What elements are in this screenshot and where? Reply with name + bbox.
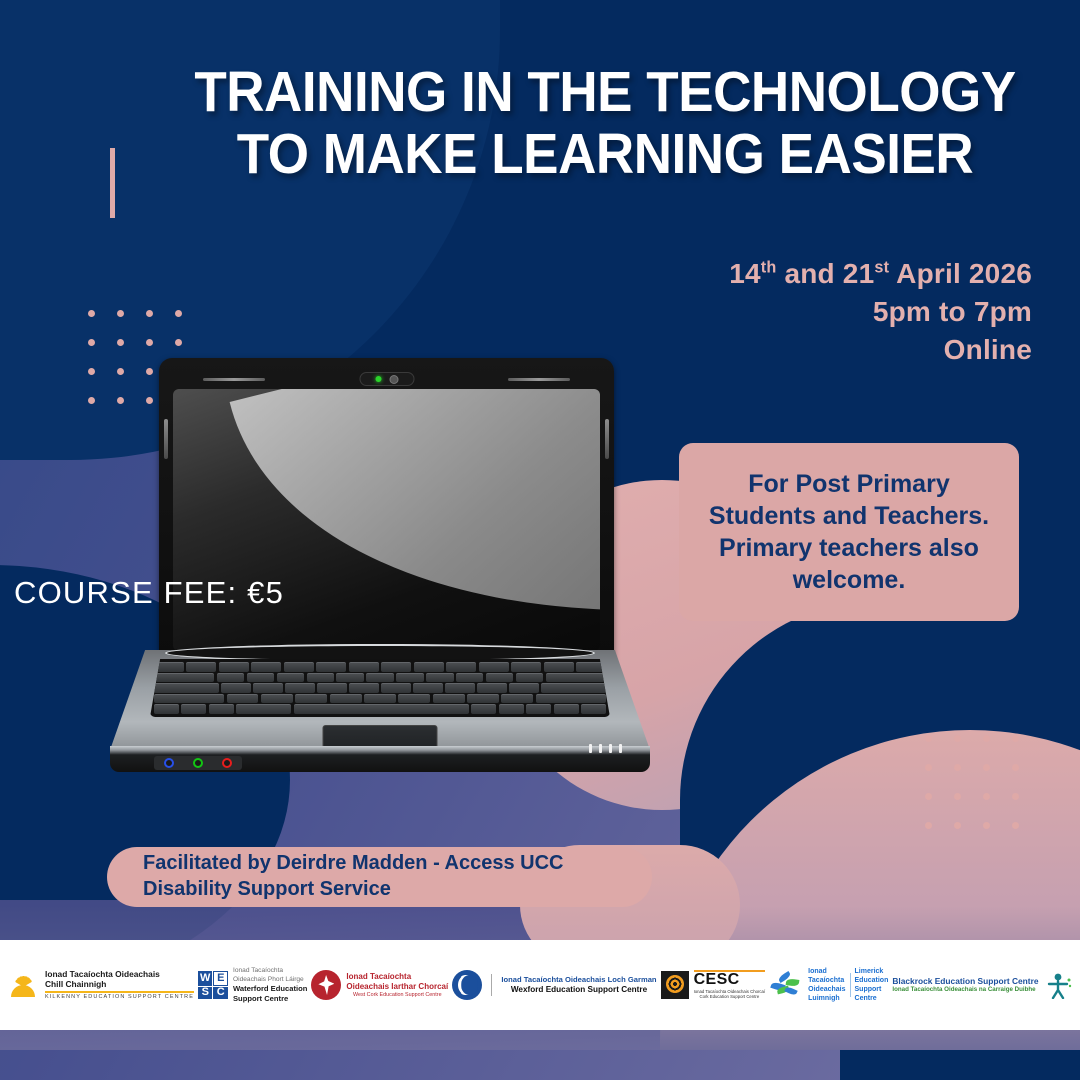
partner-logo-bar: Ionad Tacaíochta Oideachais Chill Chainn…	[0, 940, 1080, 1030]
event-mode: Online	[729, 331, 1032, 369]
wesc-letter-c: C	[213, 987, 228, 1000]
headline-line-2: TO MAKE LEARNING EASIER	[173, 124, 1038, 186]
blue-crescent-icon	[452, 970, 482, 1000]
logo-kilkenny: Ionad Tacaíochta Oideachais Chill Chainn…	[6, 970, 194, 1000]
date-ordinal-st: st	[874, 259, 889, 277]
kilkenny-line-3: KILKENNY EDUCATION SUPPORT CENTRE	[45, 994, 194, 1000]
wexford-line-1: Ionad Tacaíochta Oideachais Loch Garman	[501, 975, 656, 984]
west-cork-line-3: West Cork Education Support Centre	[346, 992, 448, 998]
keyboard-row	[154, 683, 606, 693]
laptop-keyboard	[150, 659, 610, 717]
logo-wexford: Ionad Tacaíochta Oideachais Loch Garman …	[452, 970, 656, 1000]
cesc-line-3: Cork Education Support Centre	[694, 994, 766, 999]
blue-audio-port-icon	[164, 758, 174, 768]
laptop-base	[110, 650, 650, 770]
red-audio-port-icon	[222, 758, 232, 768]
event-time: 5pm to 7pm	[729, 293, 1032, 331]
facilitator-line-2: Disability Support Service	[143, 877, 564, 903]
course-fee-label: COURSE FEE: €5	[14, 575, 284, 611]
laptop-screen	[173, 389, 600, 651]
blackrock-line-1: Blackrock Education Support Centre	[892, 976, 1038, 986]
kilkenny-rule	[45, 991, 194, 993]
red-circle-star-icon	[311, 970, 341, 1000]
event-date: 14th and 21st April 2026	[729, 255, 1032, 293]
bezel-accent-left	[203, 378, 265, 381]
blackrock-line-2: Ionad Tacaíochta Oideachais na Carraige …	[892, 986, 1038, 994]
page-title: TRAINING IN THE TECHNOLOGY TO MAKE LEARN…	[173, 62, 1038, 185]
keyboard-row	[154, 694, 606, 704]
west-cork-line-2: Oideachais Iarthar Chorcaí	[346, 982, 448, 992]
date-ordinal-th: th	[761, 259, 777, 277]
webcam-bar	[359, 372, 414, 386]
logo-blackrock: Blackrock Education Support Centre Ionad…	[892, 971, 1073, 999]
bezel-accent-right	[508, 378, 570, 381]
logo-cesc: CESC Ionad Tacaíochta Oideachais Chorcaí…	[661, 970, 766, 999]
pink-accent-line	[110, 148, 115, 218]
keyboard-row	[154, 662, 606, 672]
cesc-line-1: CESC	[694, 972, 766, 989]
poster-canvas: TRAINING IN THE TECHNOLOGY TO MAKE LEARN…	[0, 0, 1080, 1080]
wesc-letter-e: E	[213, 971, 228, 986]
waterford-line-2: Oideachais Phort Láirge	[233, 976, 307, 985]
keyboard-row	[154, 673, 606, 683]
headline-line-1: TRAINING IN THE TECHNOLOGY	[194, 60, 1015, 124]
waterford-line-1: Ionad Tacaíochta	[233, 967, 307, 976]
waterford-line-4: Support Centre	[233, 994, 307, 1003]
status-indicator-lights	[589, 744, 622, 753]
kilkenny-line-2: Chill Chainnigh	[45, 980, 194, 990]
audience-callout: For Post Primary Students and Teachers. …	[679, 443, 1019, 621]
wesc-letter-w: W	[198, 971, 213, 986]
dot-grid-right	[925, 735, 1019, 829]
logo-limerick: Ionad Tacaíochta Oideachais Luimnigh Lim…	[769, 967, 888, 1003]
audience-text: For Post Primary Students and Teachers. …	[693, 468, 1005, 596]
audio-port-group	[154, 756, 242, 770]
wexford-divider	[491, 974, 492, 996]
logo-waterford: W E S C Ionad Tacaíochta Oideachais Phor…	[198, 967, 307, 1003]
teal-figure-icon	[1043, 971, 1073, 999]
keyboard-row	[154, 704, 606, 714]
limerick-column-irish: Ionad Tacaíochta Oideachais Luimnigh	[808, 967, 845, 1003]
screen-glare	[229, 389, 600, 651]
wesc-letter-s: S	[198, 987, 213, 1000]
event-details: 14th and 21st April 2026 5pm to 7pm Onli…	[729, 255, 1032, 369]
facilitator-line-1: Facilitated by Deirdre Madden - Access U…	[143, 851, 564, 877]
orange-spiral-icon	[661, 971, 689, 999]
green-audio-port-icon	[193, 758, 203, 768]
limerick-divider	[850, 973, 851, 997]
sunburst-icon	[6, 973, 40, 997]
logo-west-cork: Ionad Tacaíochta Oideachais Iarthar Chor…	[311, 970, 448, 1000]
webcam-led-icon	[375, 376, 381, 382]
limerick-column-english: Limerick Education Support Centre	[855, 967, 889, 1003]
wexford-line-2: Wexford Education Support Centre	[501, 985, 656, 995]
wesc-blocks-icon: W E S C	[198, 971, 228, 999]
west-cork-line-1: Ionad Tacaíochta	[346, 972, 448, 982]
facilitator-banner: Facilitated by Deirdre Madden - Access U…	[107, 847, 652, 907]
laptop-lid	[159, 358, 614, 661]
webcam-lens-icon	[389, 375, 398, 384]
waterford-line-3: Waterford Education	[233, 984, 307, 993]
blue-green-leaves-icon	[769, 971, 803, 999]
